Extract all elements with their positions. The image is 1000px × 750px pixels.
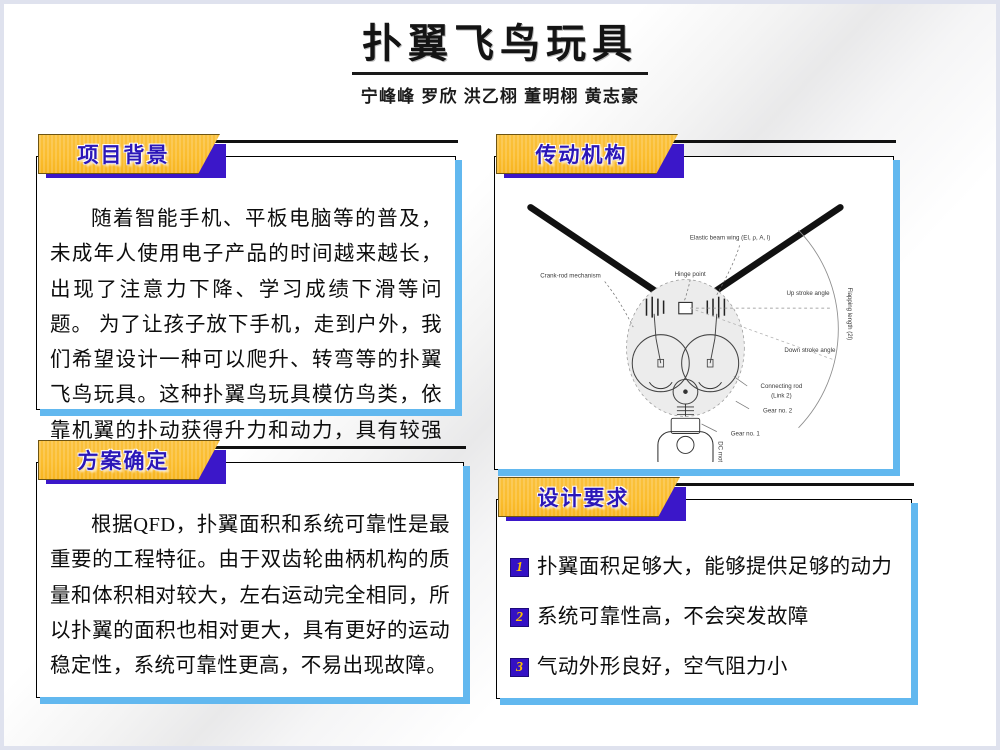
header-label: 设计要求 xyxy=(538,482,630,512)
requirements-list: 1 扑翼面积足够大，能够提供足够的动力 2 系统可靠性高，不会突发故障 3 气动… xyxy=(510,551,898,684)
author-list: 宁峰峰 罗欣 洪乙栩 董明栩 黄志豪 xyxy=(4,82,996,107)
leader-gear-1 xyxy=(702,424,717,432)
panel-transmission-mechanism: Elastic beam wing (EI, ρ, A, l) Hinge po… xyxy=(494,156,894,470)
stroke-angle-arc xyxy=(799,230,839,428)
list-item-label: 气动外形良好，空气阻力小 xyxy=(537,651,788,685)
label-gear-2: Gear no. 2 xyxy=(763,408,793,415)
label-flapping-length: Flapping length (2l) xyxy=(846,287,853,340)
title-divider xyxy=(352,72,648,75)
hinge-block xyxy=(679,302,692,313)
mechanism-schematic-svg: Elastic beam wing (EI, ρ, A, l) Hinge po… xyxy=(502,196,886,462)
panel-content: Elastic beam wing (EI, ρ, A, l) Hinge po… xyxy=(494,156,894,470)
header-tab[interactable]: 项目背景 xyxy=(38,134,220,174)
leader-crank-rod xyxy=(605,282,634,328)
list-number-badge: 1 xyxy=(510,558,529,577)
pinion-center xyxy=(683,389,688,394)
panel-content: 根据QFD，扑翼面积和系统可靠性是最重要的工程特征。由于双齿轮曲柄机构的质量和体… xyxy=(36,462,464,698)
panel-content: 1 扑翼面积足够大，能够提供足够的动力 2 系统可靠性高，不会突发故障 3 气动… xyxy=(496,499,912,699)
mechanism-figure: Elastic beam wing (EI, ρ, A, l) Hinge po… xyxy=(502,196,886,462)
page-title: 扑翼飞鸟玩具 xyxy=(4,22,996,67)
title-block: 扑翼飞鸟玩具 宁峰峰 罗欣 洪乙栩 董明栩 黄志豪 xyxy=(4,22,996,107)
list-number-badge: 2 xyxy=(510,608,529,627)
panel-content: 随着智能手机、平板电脑等的普及，未成年人使用电子产品的时间越来越长，出现了注意力… xyxy=(36,156,456,410)
leader-gear-2 xyxy=(736,401,749,409)
header-label: 方案确定 xyxy=(78,445,170,475)
header-scheme-determination[interactable]: 方案确定 xyxy=(38,440,466,480)
motor-rotor xyxy=(677,436,694,453)
label-elastic-beam-wing: Elastic beam wing (EI, ρ, A, l) xyxy=(690,235,770,242)
label-up-stroke-angle: Up stroke angle xyxy=(786,290,830,297)
list-item: 1 扑翼面积足够大，能够提供足够的动力 xyxy=(510,551,898,585)
label-hinge-point: Hinge point xyxy=(675,271,706,278)
header-transmission-mechanism[interactable]: 传动机构 xyxy=(496,134,896,174)
header-label: 项目背景 xyxy=(78,139,170,169)
header-label: 传动机构 xyxy=(536,139,628,169)
scheme-paragraph: 根据QFD，扑翼面积和系统可靠性是最重要的工程特征。由于双齿轮曲柄机构的质量和体… xyxy=(50,508,450,684)
label-crank-rod-mechanism: Crank-rod mechanism xyxy=(540,273,601,280)
header-project-background[interactable]: 项目背景 xyxy=(38,134,458,174)
list-item: 2 系统可靠性高，不会突发故障 xyxy=(510,601,898,635)
header-tab[interactable]: 传动机构 xyxy=(496,134,678,174)
list-item-label: 扑翼面积足够大，能够提供足够的动力 xyxy=(537,551,892,585)
list-number-badge: 3 xyxy=(510,658,529,677)
panel-design-requirements: 1 扑翼面积足够大，能够提供足够的动力 2 系统可靠性高，不会突发故障 3 气动… xyxy=(496,499,912,699)
slide-canvas: 扑翼飞鸟玩具 宁峰峰 罗欣 洪乙栩 董明栩 黄志豪 随着智能手机、平板电脑等的普… xyxy=(0,0,1000,750)
header-tab[interactable]: 设计要求 xyxy=(498,477,680,517)
label-connecting-rod-link: (Link 2) xyxy=(771,392,792,399)
label-dc-motor: DC motor xyxy=(717,441,724,462)
label-gear-1: Gear no. 1 xyxy=(731,430,761,437)
label-down-stroke-angle: Down stroke angle xyxy=(784,347,836,354)
panel-scheme-determination: 根据QFD，扑翼面积和系统可靠性是最重要的工程特征。由于双齿轮曲柄机构的质量和体… xyxy=(36,462,464,698)
label-connecting-rod: Connecting rod xyxy=(761,383,803,390)
list-item: 3 气动外形良好，空气阻力小 xyxy=(510,651,898,685)
header-design-requirements[interactable]: 设计要求 xyxy=(498,477,914,517)
header-tab[interactable]: 方案确定 xyxy=(38,440,220,480)
panel-project-background: 随着智能手机、平板电脑等的普及，未成年人使用电子产品的时间越来越长，出现了注意力… xyxy=(36,156,456,410)
list-item-label: 系统可靠性高，不会突发故障 xyxy=(537,601,809,635)
